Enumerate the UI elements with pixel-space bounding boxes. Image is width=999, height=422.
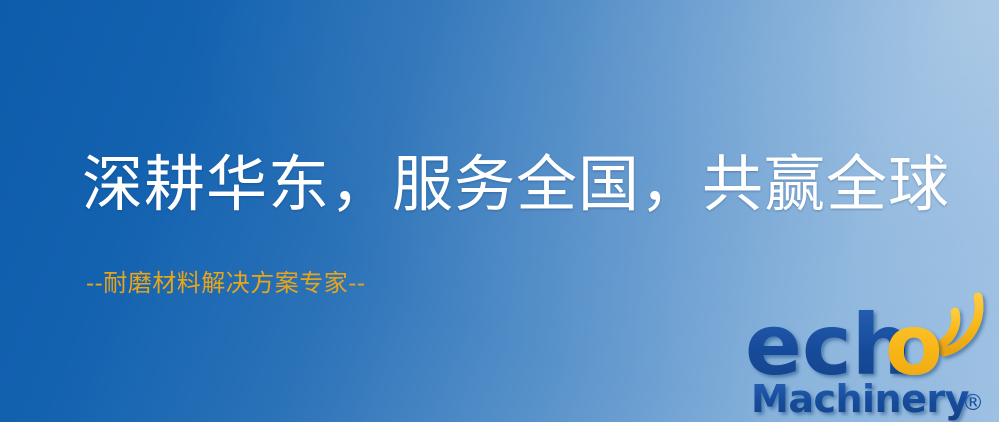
registered-trademark-icon: ® <box>962 391 984 416</box>
page-title: 深耕华东，服务全国，共赢全球 <box>82 152 950 218</box>
company-logo: ech o Machinery ® <box>745 290 995 422</box>
logo-tagline: Machinery <box>751 377 970 421</box>
hero-banner: 深耕华东，服务全国，共赢全球 --耐磨材料解决方案专家-- <box>0 0 999 422</box>
banner-subtitle: --耐磨材料解决方案专家-- <box>86 269 365 298</box>
